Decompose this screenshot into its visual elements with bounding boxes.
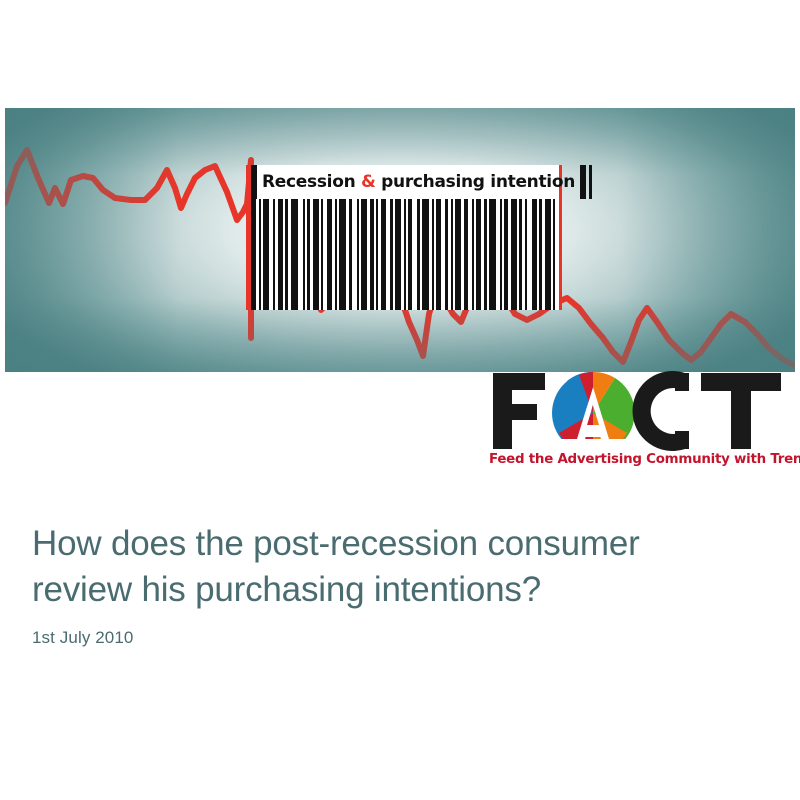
- hero-banner: Recession & purchasing intention: [5, 108, 795, 372]
- fact-logo: Feed the Advertising Community with Tren…: [489, 369, 789, 475]
- barcode-bar: [422, 199, 429, 310]
- slide-headline: How does the post-recession consumer rev…: [32, 521, 762, 613]
- barcode-label-row: Recession & purchasing intention: [251, 165, 559, 199]
- barcode-guard-bar-right-thin: [589, 165, 592, 199]
- fact-logo-lettermark: [489, 369, 789, 453]
- barcode-label-ampersand: &: [361, 172, 376, 192]
- trendline-left-segment: [5, 150, 251, 338]
- barcode-bar: [339, 199, 346, 310]
- barcode-space: [555, 199, 559, 310]
- barcode-left-red-bar: [246, 165, 249, 310]
- headline-line-2: review his purchasing intentions?: [32, 567, 762, 613]
- barcode-bars: [251, 199, 559, 310]
- barcode-bar: [489, 199, 496, 310]
- barcode-guard-bar-right: [580, 165, 586, 199]
- logo-letter-a-wheel: [552, 372, 635, 453]
- logo-letter-c: [633, 371, 689, 451]
- slide-date: 1st July 2010: [32, 628, 133, 648]
- barcode-label-before: Recession: [262, 172, 361, 192]
- title-slide: Recession & purchasing intention: [0, 0, 800, 800]
- barcode-graphic: Recession & purchasing intention: [245, 165, 565, 310]
- headline-line-1: How does the post-recession consumer: [32, 521, 762, 567]
- logo-letter-t: [701, 373, 781, 449]
- barcode-label-text: Recession & purchasing intention: [257, 174, 580, 191]
- logo-letter-f: [493, 373, 545, 449]
- barcode-label-after: purchasing intention: [376, 172, 576, 192]
- fact-logo-tagline: Feed the Advertising Community with Tren…: [489, 453, 789, 466]
- barcode-bar: [291, 199, 298, 310]
